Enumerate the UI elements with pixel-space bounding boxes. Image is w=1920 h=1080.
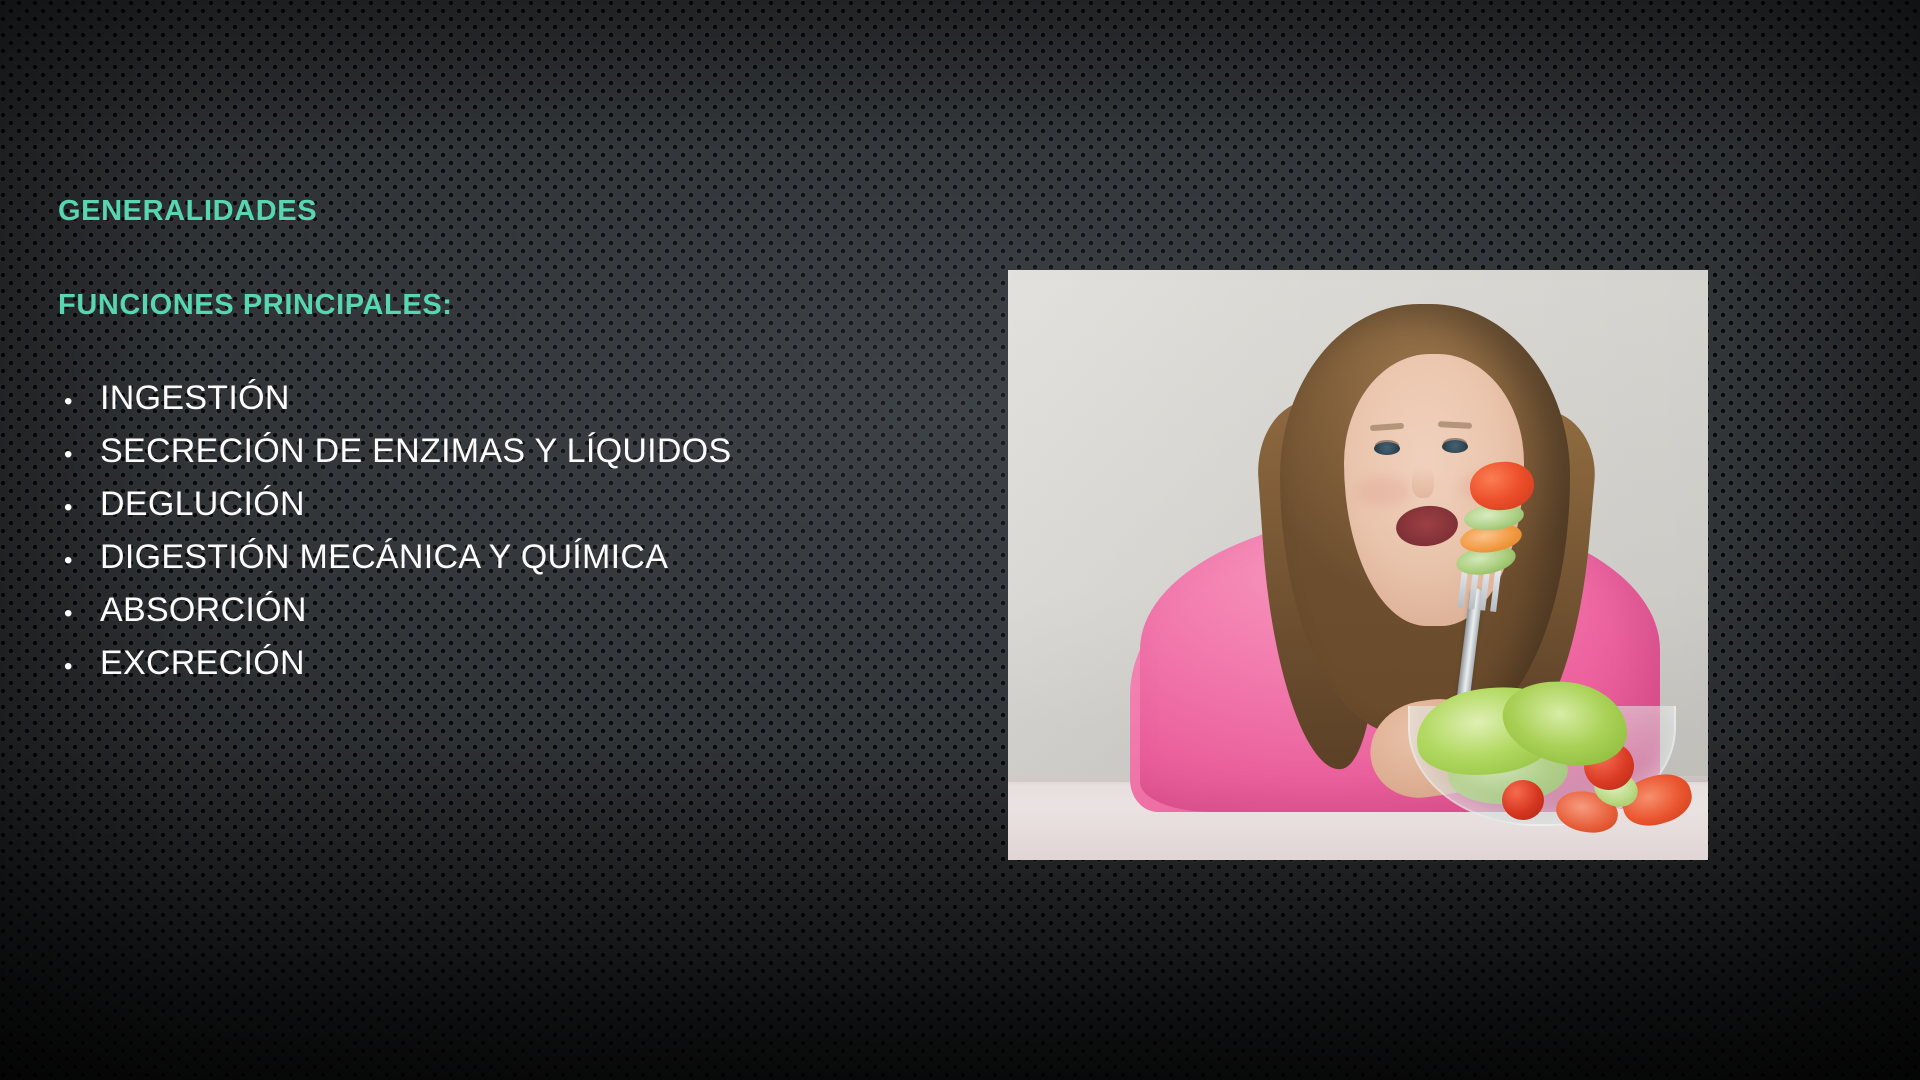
bullet-point-icon: • [58,390,100,414]
photo-cheek-left [1356,476,1410,506]
bullet-label: DEGLUCIÓN [100,484,305,524]
photo-eye-right [1442,440,1468,453]
bullet-point-icon: • [58,496,100,520]
bullet-label: EXCRECIÓN [100,643,305,683]
photo-eye-left [1374,442,1400,455]
girl-eating-salad-photo [1008,270,1708,860]
presentation-slide: GENERALIDADES FUNCIONES PRINCIPALES: • I… [0,0,1920,1080]
bullet-point-icon: • [58,602,100,626]
slide-text-column: GENERALIDADES FUNCIONES PRINCIPALES: • I… [58,196,918,696]
funciones-bullet-list: • INGESTIÓN • SECRECIÓN DE ENZIMAS Y LÍQ… [58,378,918,684]
bullet-label: INGESTIÓN [100,378,290,418]
list-item: • EXCRECIÓN [58,643,918,683]
photo-cherry-tomato-2 [1502,780,1544,820]
list-item: • ABSORCIÓN [58,590,918,630]
bullet-label: DIGESTIÓN MECÁNICA Y QUÍMICA [100,537,668,577]
heading-funciones-principales: FUNCIONES PRINCIPALES: [58,290,918,322]
list-item: • DIGESTIÓN MECÁNICA Y QUÍMICA [58,537,918,577]
list-item: • DEGLUCIÓN [58,484,918,524]
slide-photo [1008,270,1708,860]
list-item: • INGESTIÓN [58,378,918,418]
list-item: • SECRECIÓN DE ENZIMAS Y LÍQUIDOS [58,431,918,471]
bullet-point-icon: • [58,443,100,467]
bullet-label: SECRECIÓN DE ENZIMAS Y LÍQUIDOS [100,431,732,471]
bullet-label: ABSORCIÓN [100,590,307,630]
heading-generalidades: GENERALIDADES [58,196,918,228]
bullet-point-icon: • [58,655,100,679]
bullet-point-icon: • [58,549,100,573]
photo-nose [1412,466,1434,498]
